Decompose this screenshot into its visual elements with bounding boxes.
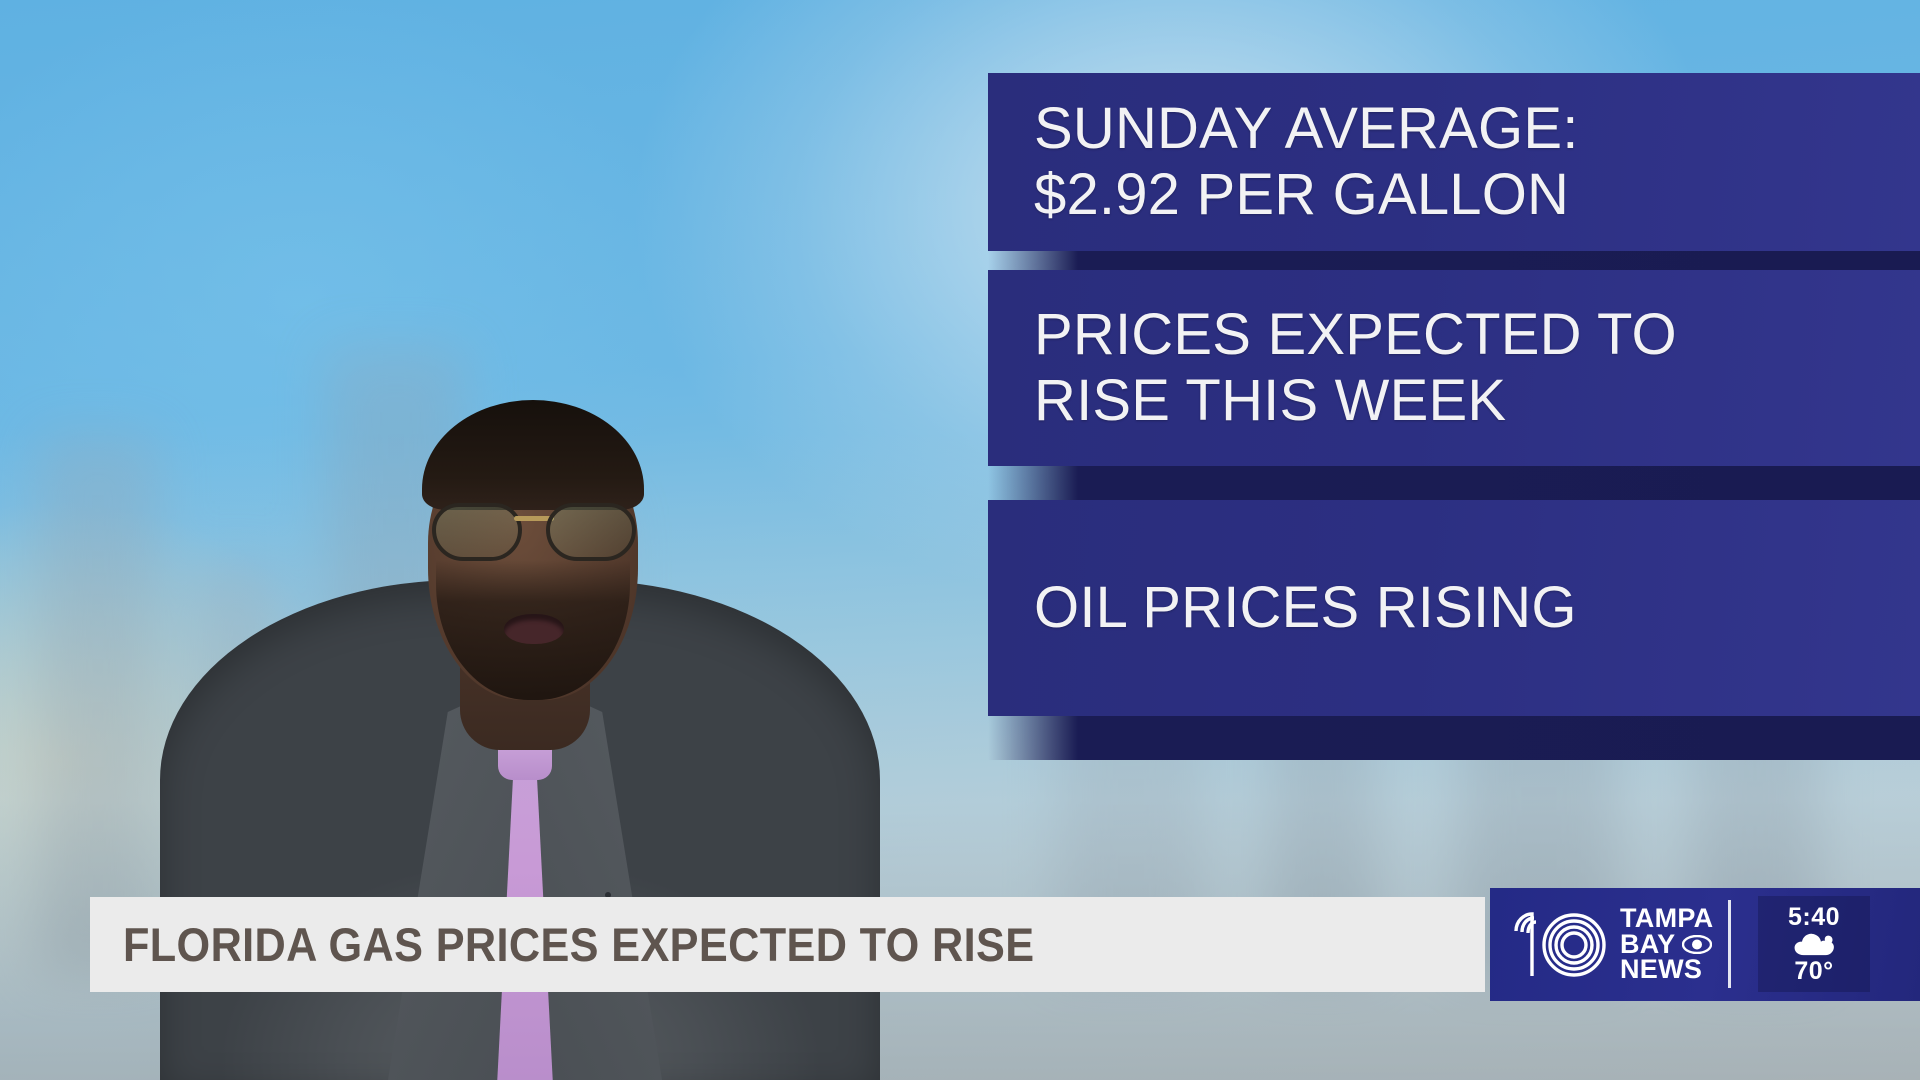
cbs-eye-icon [1682, 935, 1712, 954]
current-time: 5:40 [1788, 903, 1840, 932]
bullet-text-2: PRICES EXPECTED TO RISE THIS WEEK [1034, 302, 1677, 433]
current-temperature: 70° [1794, 957, 1833, 986]
bullet-text-3: OIL PRICES RISING [1034, 575, 1577, 641]
bullet-panel-oil-prices: OIL PRICES RISING [988, 500, 1920, 716]
station-bug: TAMPA BAY NEWS 5:40 70° [1490, 888, 1920, 1001]
ten-logo-icon [1510, 909, 1608, 981]
bug-divider [1728, 900, 1731, 988]
panel-separator-3 [988, 716, 1920, 760]
bullet-panel-prices-expected: PRICES EXPECTED TO RISE THIS WEEK [988, 270, 1920, 466]
anchor-mouth [504, 614, 564, 644]
bullet-text-1: SUNDAY AVERAGE: $2.92 PER GALLON [1034, 96, 1579, 227]
logo-line-news: NEWS [1620, 957, 1713, 983]
logo-line-tampa: TAMPA [1620, 906, 1713, 932]
station-name: TAMPA BAY NEWS [1620, 906, 1713, 984]
headline-text: FLORIDA GAS PRICES EXPECTED TO RISE [123, 917, 1034, 972]
broadcast-screen: SUNDAY AVERAGE: $2.92 PER GALLON PRICES … [0, 0, 1920, 1080]
station-logo: TAMPA BAY NEWS [1490, 906, 1713, 984]
panel-separator-1 [988, 251, 1920, 270]
bullet-panel-sunday-average: SUNDAY AVERAGE: $2.92 PER GALLON [988, 73, 1920, 251]
anchor-hair [422, 400, 644, 510]
weather-widget: 5:40 70° [1758, 896, 1870, 992]
panel-separator-2 [988, 466, 1920, 500]
lower-third-banner: FLORIDA GAS PRICES EXPECTED TO RISE [90, 897, 1485, 992]
cloud-icon [1792, 932, 1836, 957]
anchor-eyeglasses [432, 503, 636, 555]
